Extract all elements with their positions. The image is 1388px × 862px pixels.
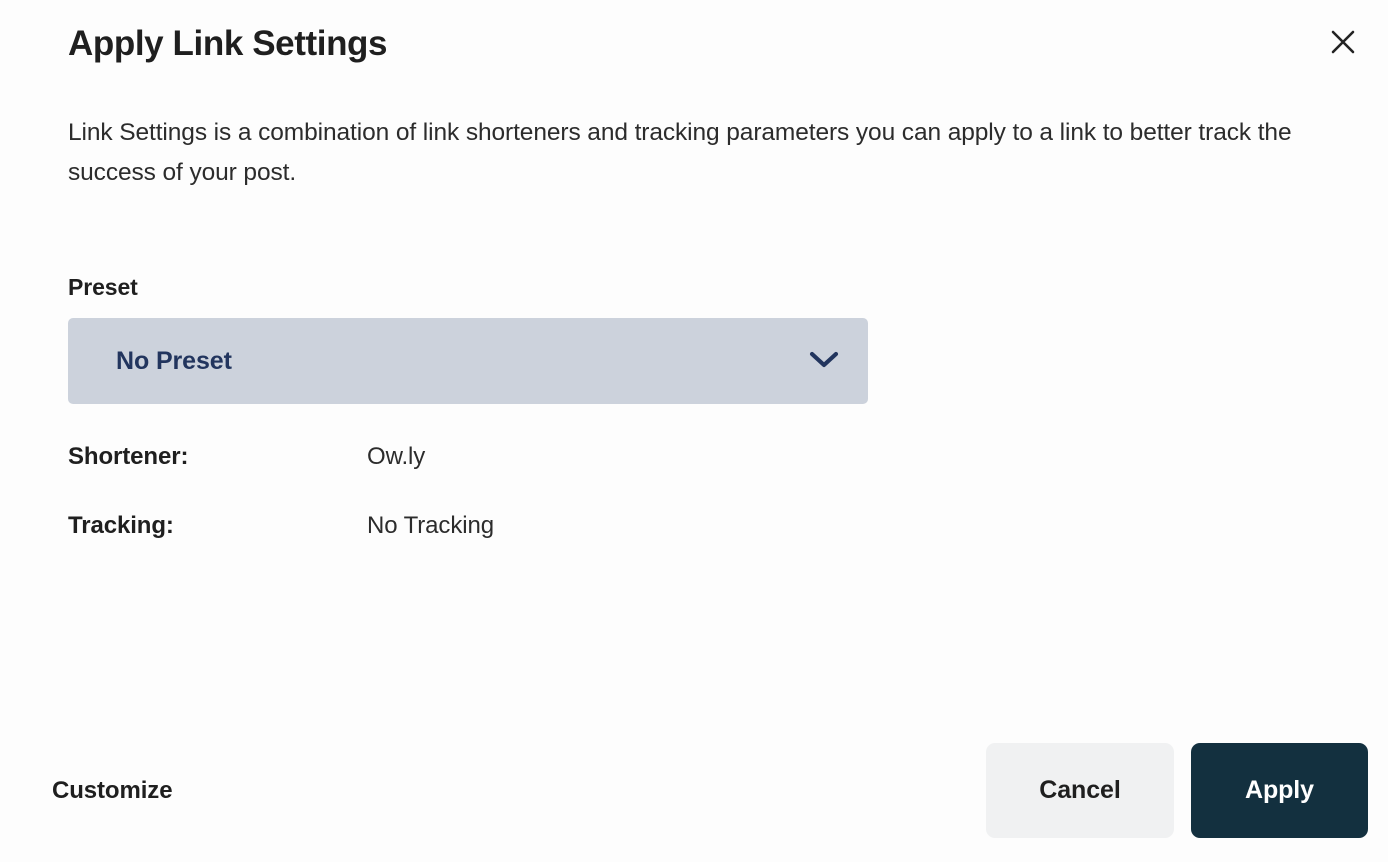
detail-key-shortener: Shortener: <box>68 443 367 471</box>
detail-key-tracking: Tracking: <box>68 512 367 540</box>
detail-value-tracking: No Tracking <box>367 512 494 540</box>
table-row: Tracking: No Tracking <box>68 512 788 581</box>
close-icon-glyph <box>1329 28 1357 56</box>
table-row: Shortener: Ow.ly <box>68 443 788 512</box>
apply-link-settings-dialog: Apply Link Settings Link Settings is a c… <box>0 0 1388 862</box>
preset-select[interactable]: No Preset <box>68 318 868 404</box>
cancel-button[interactable]: Cancel <box>986 743 1174 838</box>
customize-button[interactable]: Customize <box>52 767 172 815</box>
dialog-description: Link Settings is a combination of link s… <box>68 113 1298 193</box>
apply-button[interactable]: Apply <box>1191 743 1368 838</box>
close-icon[interactable] <box>1319 18 1367 66</box>
dialog-footer: Customize Cancel Apply <box>0 743 1388 838</box>
preset-label: Preset <box>68 274 138 301</box>
preset-select-value: No Preset <box>116 347 232 376</box>
link-settings-details: Shortener: Ow.ly Tracking: No Tracking <box>68 443 788 581</box>
detail-value-shortener: Ow.ly <box>367 443 425 471</box>
footer-actions: Cancel Apply <box>986 743 1368 838</box>
page-title: Apply Link Settings <box>68 24 387 65</box>
chevron-down-icon <box>809 351 839 372</box>
chevron-down-icon-glyph <box>809 351 839 369</box>
